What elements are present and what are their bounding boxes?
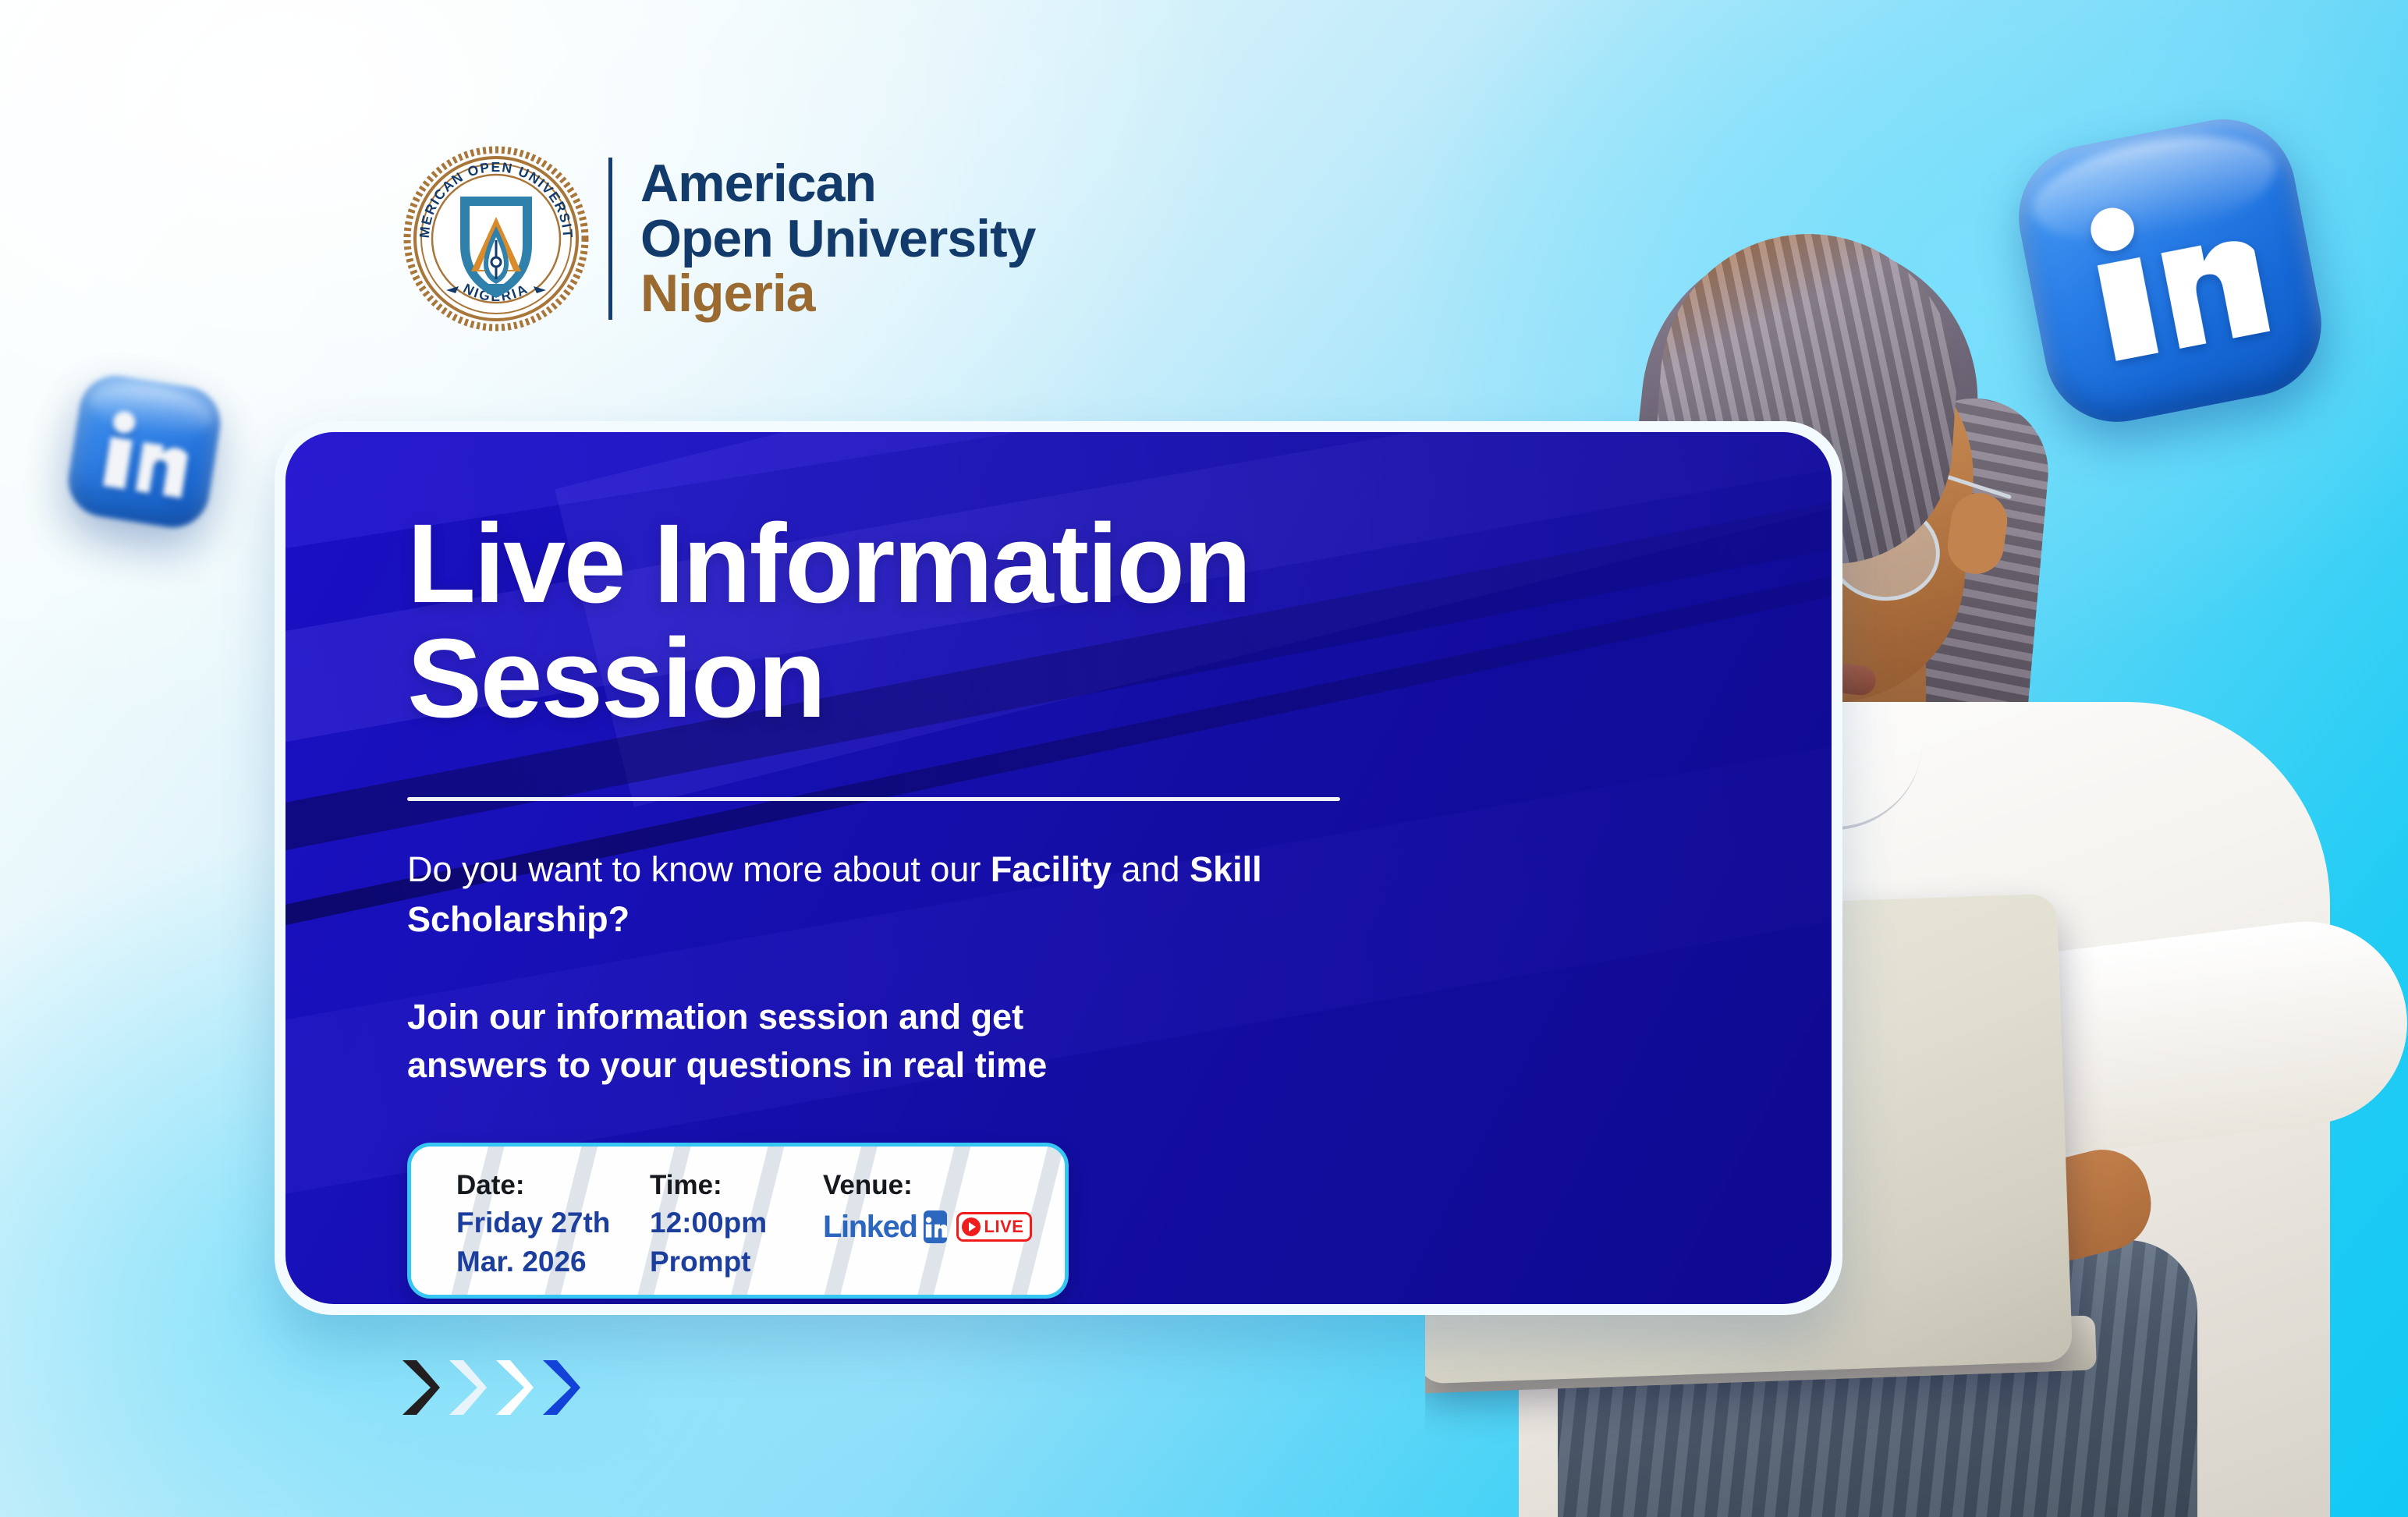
time-value-line-2: Prompt (650, 1245, 823, 1279)
chevron-dark-icon (399, 1359, 440, 1416)
chevron-arrows (399, 1359, 580, 1416)
brand-header: AMERICAN OPEN UNIVERSITY NIGERIA Ame (403, 145, 1036, 332)
linkedin-wordmark: Linked (823, 1211, 917, 1242)
date-value-line-2: Mar. 2026 (456, 1245, 650, 1279)
brand-line-1: American (640, 156, 1036, 211)
linkedin-tile (2006, 107, 2334, 434)
linkedin-in-icon (924, 1210, 947, 1243)
intro-bold-facility: Facility (991, 849, 1112, 889)
brand-line-2: Open University (640, 211, 1036, 267)
play-icon (962, 1217, 981, 1236)
main-panel-inner: Live Information Session Do you want to … (285, 432, 1832, 1304)
chevron-pale-icon (446, 1359, 487, 1416)
linkedin-glyph (63, 370, 225, 533)
headline-line-2: Session (407, 622, 1832, 736)
poster-canvas: AMERICAN OPEN UNIVERSITY NIGERIA Ame (0, 0, 2408, 1517)
linkedin-icon-small (63, 370, 225, 533)
intro-text-2: and (1112, 849, 1190, 889)
time-label: Time: (650, 1170, 823, 1201)
live-label: LIVE (984, 1217, 1024, 1237)
chevron-blue-icon (540, 1359, 580, 1416)
intro-text-1: Do you want to know more about our (407, 849, 991, 889)
cta-paragraph: Join our information session and get ans… (407, 993, 1367, 1090)
intro-paragraph: Do you want to know more about our Facil… (407, 845, 1367, 945)
panel-content: Live Information Session Do you want to … (285, 432, 1832, 1090)
brand-divider (608, 158, 612, 320)
linkedin-tile (63, 370, 225, 533)
main-panel: Live Information Session Do you want to … (275, 421, 1842, 1315)
headline-line-1: Live Information (407, 507, 1832, 622)
linkedin-live-logo: Linked LIVE (823, 1210, 1026, 1243)
linkedin-glyph (2006, 107, 2334, 434)
date-value-line-1: Friday 27th (456, 1206, 650, 1240)
event-details-card: Date: Friday 27th Mar. 2026 Time: 12:00p… (407, 1143, 1069, 1299)
detail-time: Time: 12:00pm Prompt (650, 1170, 823, 1279)
detail-venue: Venue: Linked (823, 1170, 1026, 1279)
date-label: Date: (456, 1170, 650, 1201)
time-value-line-1: 12:00pm (650, 1206, 823, 1240)
page-title: Live Information Session (407, 507, 1832, 736)
card-columns: Date: Friday 27th Mar. 2026 Time: 12:00p… (411, 1147, 1065, 1279)
venue-label: Venue: (823, 1170, 1026, 1201)
live-badge: LIVE (956, 1212, 1033, 1242)
cta-line-1: Join our information session and get (407, 997, 1023, 1037)
cta-line-2: answers to your questions in real time (407, 1045, 1047, 1085)
linkedin-icon-large (2006, 107, 2334, 434)
university-seal-icon: AMERICAN OPEN UNIVERSITY NIGERIA (403, 145, 590, 332)
detail-date: Date: Friday 27th Mar. 2026 (456, 1170, 650, 1279)
chevron-white-icon (493, 1359, 534, 1416)
headline-divider (407, 797, 1340, 801)
brand-wordmark: American Open University Nigeria (640, 156, 1036, 321)
brand-line-3: Nigeria (640, 266, 1036, 321)
